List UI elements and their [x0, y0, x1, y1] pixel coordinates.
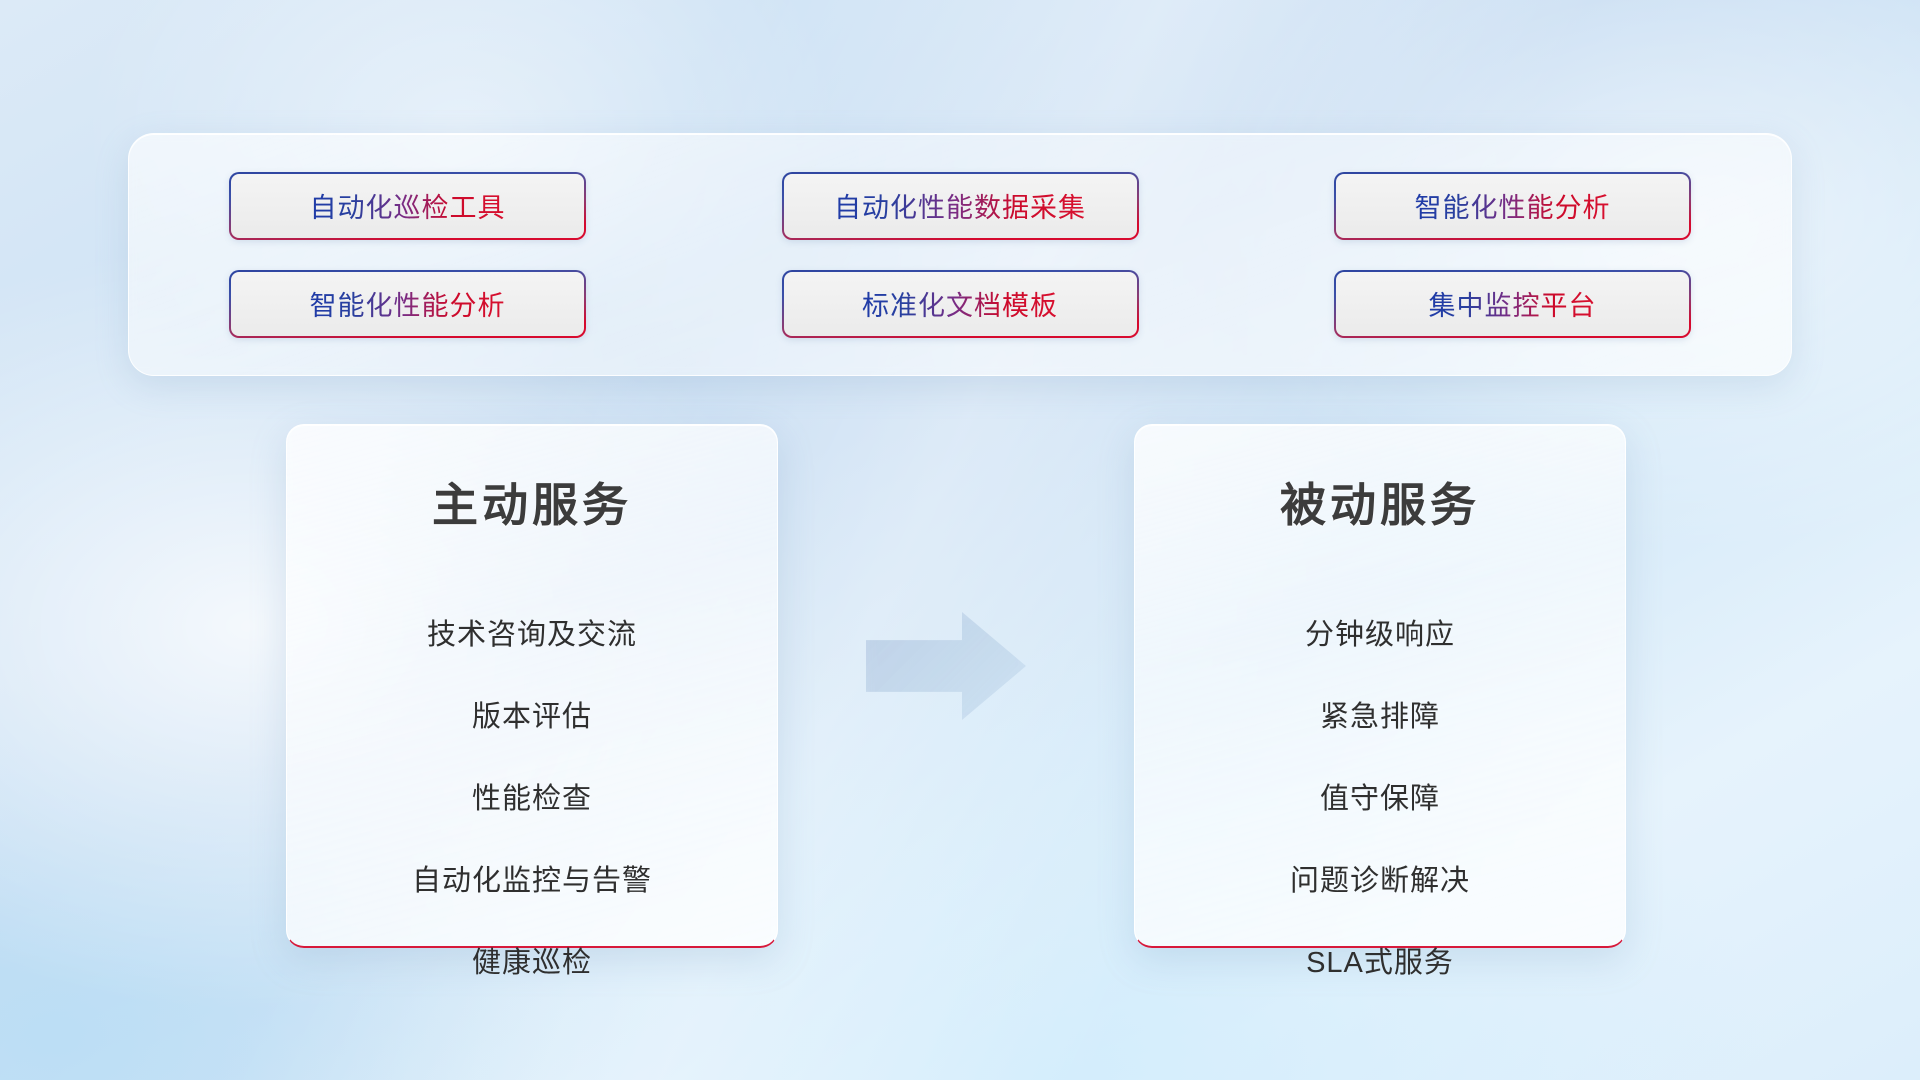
capability-pill-intelligent-performance-analysis-top[interactable]: 智能化性能分析	[1334, 172, 1691, 240]
pill-surface: 自动化性能数据采集	[784, 174, 1137, 238]
capability-pill-label: 智能化性能分析	[1415, 186, 1611, 225]
capability-pill-label: 标准化文档模板	[862, 284, 1058, 323]
service-card-reactive: 被动服务 分钟级响应 紧急排障 值守保障 问题诊断解决 SLA式服务	[1134, 424, 1626, 948]
list-item: 问题诊断解决	[1175, 837, 1585, 919]
slide-stage: 自动化巡检工具 自动化性能数据采集 智能化性能分析 智能化性能分析	[0, 0, 1920, 1080]
pill-surface: 智能化性能分析	[231, 272, 584, 336]
capability-pill-automated-inspection-tool[interactable]: 自动化巡检工具	[229, 172, 586, 240]
service-item-list: 分钟级响应 紧急排障 值守保障 问题诊断解决 SLA式服务	[1175, 591, 1585, 1001]
list-item: SLA式服务	[1175, 919, 1585, 1001]
capability-pill-label: 自动化性能数据采集	[834, 186, 1086, 225]
card-title: 主动服务	[432, 469, 632, 535]
capability-pill-label: 集中监控平台	[1429, 284, 1597, 323]
list-item: 自动化监控与告警	[327, 837, 737, 919]
list-item: 分钟级响应	[1175, 591, 1585, 673]
capability-pill-standardized-document-template[interactable]: 标准化文档模板	[782, 270, 1139, 338]
capability-pill-automated-performance-data-collection[interactable]: 自动化性能数据采集	[782, 172, 1139, 240]
list-item: 健康巡检	[327, 919, 737, 1001]
service-card-proactive: 主动服务 技术咨询及交流 版本评估 性能检查 自动化监控与告警 健康巡检	[286, 424, 778, 948]
capabilities-row-2: 智能化性能分析 标准化文档模板 集中监控平台	[229, 270, 1691, 338]
pill-surface: 标准化文档模板	[784, 272, 1137, 336]
arrow-right-icon	[866, 612, 1026, 720]
pill-surface: 智能化性能分析	[1336, 174, 1689, 238]
capabilities-row-1: 自动化巡检工具 自动化性能数据采集 智能化性能分析	[229, 172, 1691, 240]
list-item: 紧急排障	[1175, 673, 1585, 755]
list-item: 版本评估	[327, 673, 737, 755]
capability-pill-label: 智能化性能分析	[310, 284, 506, 323]
service-item-list: 技术咨询及交流 版本评估 性能检查 自动化监控与告警 健康巡检	[327, 591, 737, 1001]
list-item: 值守保障	[1175, 755, 1585, 837]
pill-surface: 集中监控平台	[1336, 272, 1689, 336]
list-item: 技术咨询及交流	[327, 591, 737, 673]
pill-surface: 自动化巡检工具	[231, 174, 584, 238]
capability-pill-intelligent-performance-analysis[interactable]: 智能化性能分析	[229, 270, 586, 338]
card-title: 被动服务	[1280, 469, 1480, 535]
list-item: 性能检查	[327, 755, 737, 837]
capabilities-panel: 自动化巡检工具 自动化性能数据采集 智能化性能分析 智能化性能分析	[128, 133, 1792, 376]
capability-pill-centralized-monitoring-platform[interactable]: 集中监控平台	[1334, 270, 1691, 338]
capability-pill-label: 自动化巡检工具	[310, 186, 506, 225]
